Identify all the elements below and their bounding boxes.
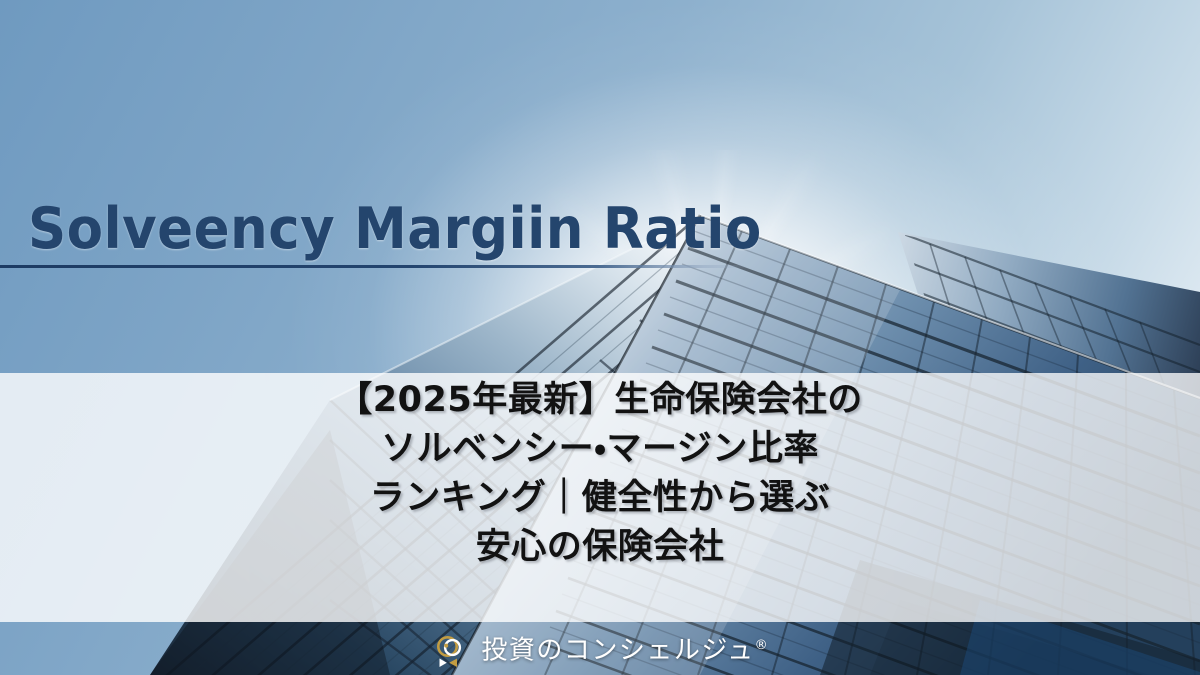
concierge-ring-logo-icon xyxy=(432,632,468,668)
headline-line-1: 【2025年最新】生命保険会社の xyxy=(0,376,1200,425)
thumbnail-canvas: Solveency Margiin Ratio 【2025年最新】生命保険会社の… xyxy=(0,0,1200,675)
brand-name-text: 投資のコンシェルジュ xyxy=(481,636,754,666)
brand-name: 投資のコンシェルジュ® xyxy=(481,631,767,666)
footer-brand-bar: 投資のコンシェルジュ® xyxy=(0,622,1200,675)
headline-text: 【2025年最新】生命保険会社の ソルベンシー・マージン比率 ランキング｜健全性… xyxy=(0,376,1200,572)
english-title-block: Solveency Margiin Ratio xyxy=(0,196,1200,282)
english-title: Solveency Margiin Ratio xyxy=(28,196,762,262)
registered-trademark-mark: ® xyxy=(755,638,768,653)
headline-line-2: ソルベンシー・マージン比率 xyxy=(0,425,1200,474)
headline-line-4: 安心の保険会社 xyxy=(0,523,1200,572)
headline-line-3: ランキング｜健全性から選ぶ xyxy=(0,474,1200,523)
english-title-underline xyxy=(0,265,748,268)
